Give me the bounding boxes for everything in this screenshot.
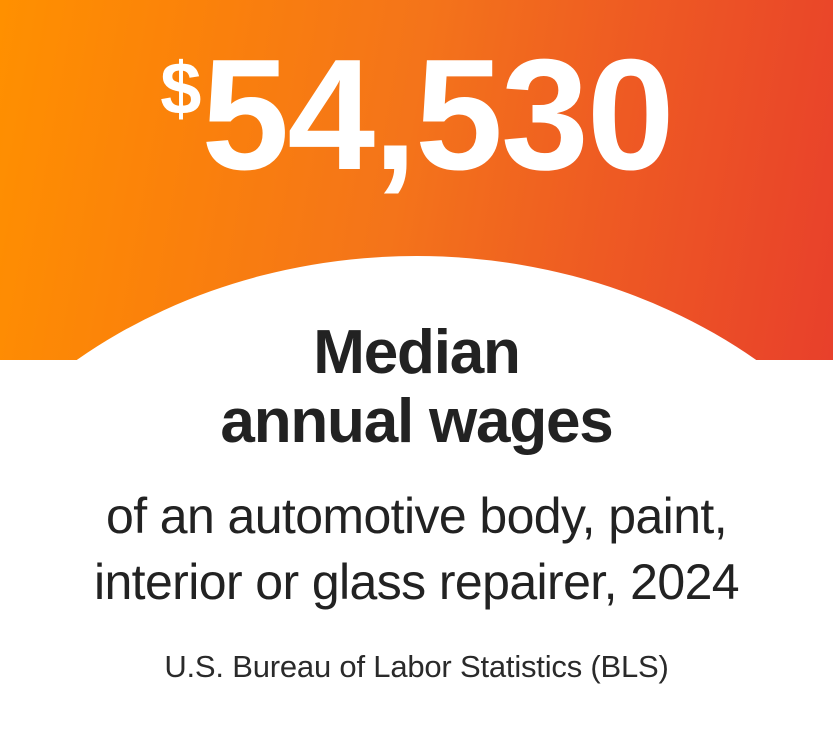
subtitle: of an automotive body, paint, interior o…	[0, 483, 833, 615]
stat-value: $54,530	[0, 36, 833, 194]
source-attribution: U.S. Bureau of Labor Statistics (BLS)	[0, 649, 833, 685]
page-title: Median annual wages	[0, 318, 833, 457]
headline-line-2: annual wages	[0, 387, 833, 456]
subtitle-line-1: of an automotive body, paint,	[0, 483, 833, 549]
headline-line-1: Median	[0, 318, 833, 387]
stat-infographic-card: $54,530 Median annual wages of an automo…	[0, 0, 833, 729]
currency-symbol: $	[160, 47, 201, 130]
stat-amount: 54,530	[201, 27, 672, 203]
subtitle-line-2: interior or glass repairer, 2024	[0, 549, 833, 615]
card-content: Median annual wages of an automotive bod…	[0, 318, 833, 685]
